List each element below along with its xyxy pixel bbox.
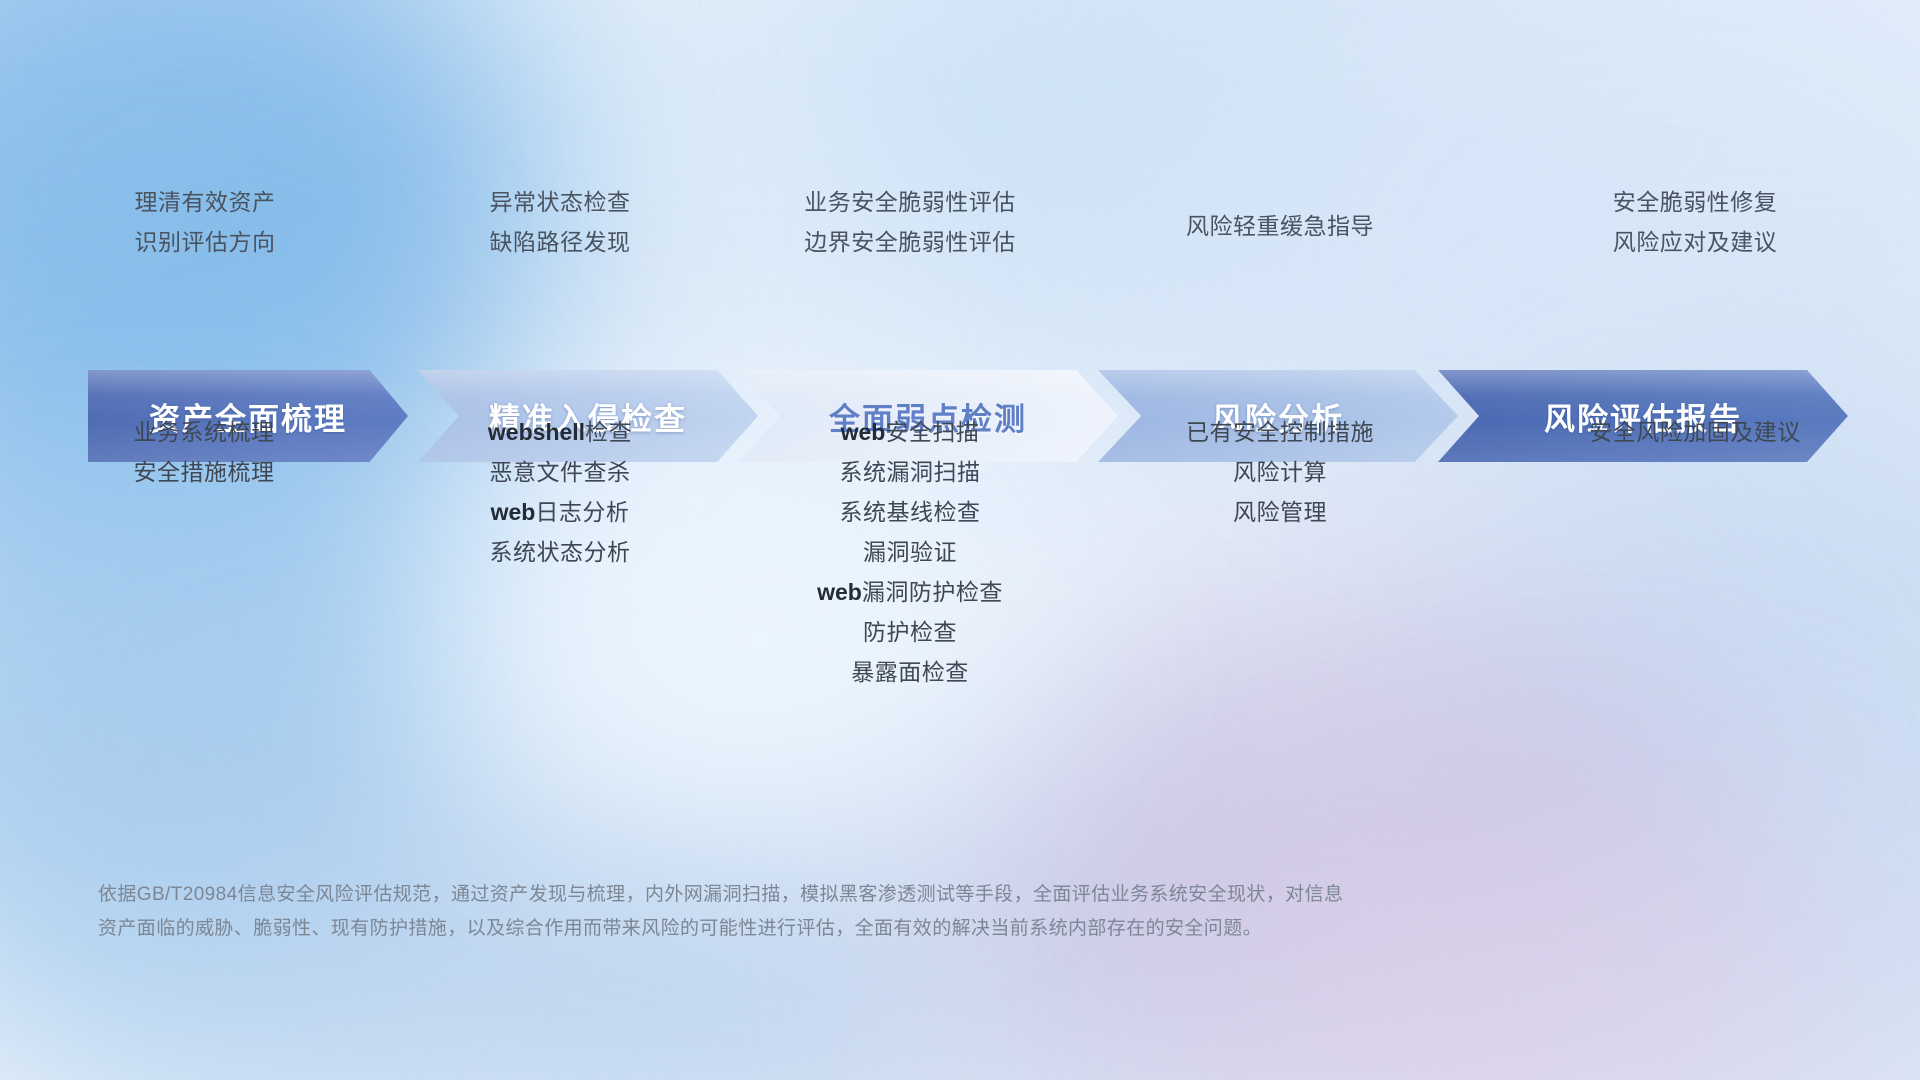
task-latin-prefix: web (841, 419, 886, 445)
task-text: 安全措施梳理 (134, 459, 275, 485)
top-annotations-col-5: 安全脆弱性修复 风险应对及建议 (1470, 182, 1920, 262)
task-text: 系统状态分析 (490, 539, 631, 565)
task-item: 安全措施梳理 (18, 452, 390, 492)
task-item: 风险计算 (1090, 452, 1470, 492)
task-item: web日志分析 (390, 492, 730, 532)
task-item: 系统基线检查 (730, 492, 1090, 532)
task-text: 安全扫描 (885, 419, 979, 445)
task-text: 业务系统梳理 (134, 419, 275, 445)
task-list-col-4: 已有安全控制措施 风险计算 风险管理 (1090, 412, 1470, 532)
top-annotation-item: 异常状态检查 (390, 182, 730, 222)
task-latin-prefix: webshell (488, 419, 585, 445)
task-list-col-5: 安全风险加固及建议 (1470, 412, 1920, 452)
top-annotations-col-1: 理清有效资产 识别评估方向 (0, 182, 390, 262)
task-item: 业务系统梳理 (18, 412, 390, 452)
top-annotation-item: 理清有效资产 (20, 182, 390, 222)
task-item: 已有安全控制措施 (1090, 412, 1470, 452)
task-latin-prefix: web (817, 579, 862, 605)
top-annotations-col-4: 风险轻重缓急指导 (1090, 182, 1470, 246)
task-item: webshell检查 (390, 412, 730, 452)
task-text: 日志分析 (535, 499, 629, 525)
diagram-content: 理清有效资产 识别评估方向 异常状态检查 缺陷路径发现 业务安全脆弱性评估 边界… (0, 0, 1920, 1080)
footer-line-2: 资产面临的威胁、脆弱性、现有防护措施，以及综合作用而带来风险的可能性进行评估，全… (98, 912, 1658, 946)
task-item: 系统状态分析 (390, 532, 730, 572)
task-text: 安全风险加固及建议 (1589, 419, 1801, 445)
task-item: 防护检查 (730, 612, 1090, 652)
top-annotation-item: 安全脆弱性修复 (1470, 182, 1920, 222)
footer-line-1: 依据GB/T20984信息安全风险评估规范，通过资产发现与梳理，内外网漏洞扫描，… (98, 878, 1658, 912)
top-annotation-item: 识别评估方向 (20, 222, 390, 262)
task-item: 恶意文件查杀 (390, 452, 730, 492)
top-annotations-col-3: 业务安全脆弱性评估 边界安全脆弱性评估 (730, 182, 1090, 262)
top-annotations-col-2: 异常状态检查 缺陷路径发现 (390, 182, 730, 262)
task-text: 风险管理 (1233, 499, 1327, 525)
task-text: 系统基线检查 (840, 499, 981, 525)
task-list-col-2: webshell检查 恶意文件查杀 web日志分析 系统状态分析 (390, 412, 730, 572)
task-text: 漏洞防护检查 (862, 579, 1003, 605)
task-item: 系统漏洞扫描 (730, 452, 1090, 492)
task-text: 已有安全控制措施 (1186, 419, 1374, 445)
task-list-col-1: 业务系统梳理 安全措施梳理 (0, 412, 390, 492)
task-text: 防护检查 (863, 619, 957, 645)
task-item: 安全风险加固及建议 (1470, 412, 1920, 452)
task-text: 漏洞验证 (863, 539, 957, 565)
task-text: 风险计算 (1233, 459, 1327, 485)
top-annotations-row: 理清有效资产 识别评估方向 异常状态检查 缺陷路径发现 业务安全脆弱性评估 边界… (0, 182, 1920, 262)
task-item: web安全扫描 (730, 412, 1090, 452)
task-text: 检查 (585, 419, 632, 445)
top-annotation-item: 边界安全脆弱性评估 (730, 222, 1090, 262)
task-latin-prefix: web (491, 499, 536, 525)
top-annotation-item: 风险轻重缓急指导 (1090, 206, 1470, 246)
task-item: web漏洞防护检查 (730, 572, 1090, 612)
task-item: 漏洞验证 (730, 532, 1090, 572)
top-annotation-item: 风险应对及建议 (1470, 222, 1920, 262)
task-text: 系统漏洞扫描 (840, 459, 981, 485)
task-list-col-3: web安全扫描 系统漏洞扫描 系统基线检查 漏洞验证 web漏洞防护检查 防护检… (730, 412, 1090, 692)
top-annotation-item: 业务安全脆弱性评估 (730, 182, 1090, 222)
task-lists-row: 业务系统梳理 安全措施梳理 webshell检查 恶意文件查杀 web日志分析 … (0, 412, 1920, 692)
task-item: 风险管理 (1090, 492, 1470, 532)
task-item: 暴露面检查 (730, 652, 1090, 692)
task-text: 恶意文件查杀 (490, 459, 631, 485)
task-text: 暴露面检查 (851, 659, 969, 685)
top-annotation-item: 缺陷路径发现 (390, 222, 730, 262)
footer-description: 依据GB/T20984信息安全风险评估规范，通过资产发现与梳理，内外网漏洞扫描，… (98, 878, 1658, 946)
